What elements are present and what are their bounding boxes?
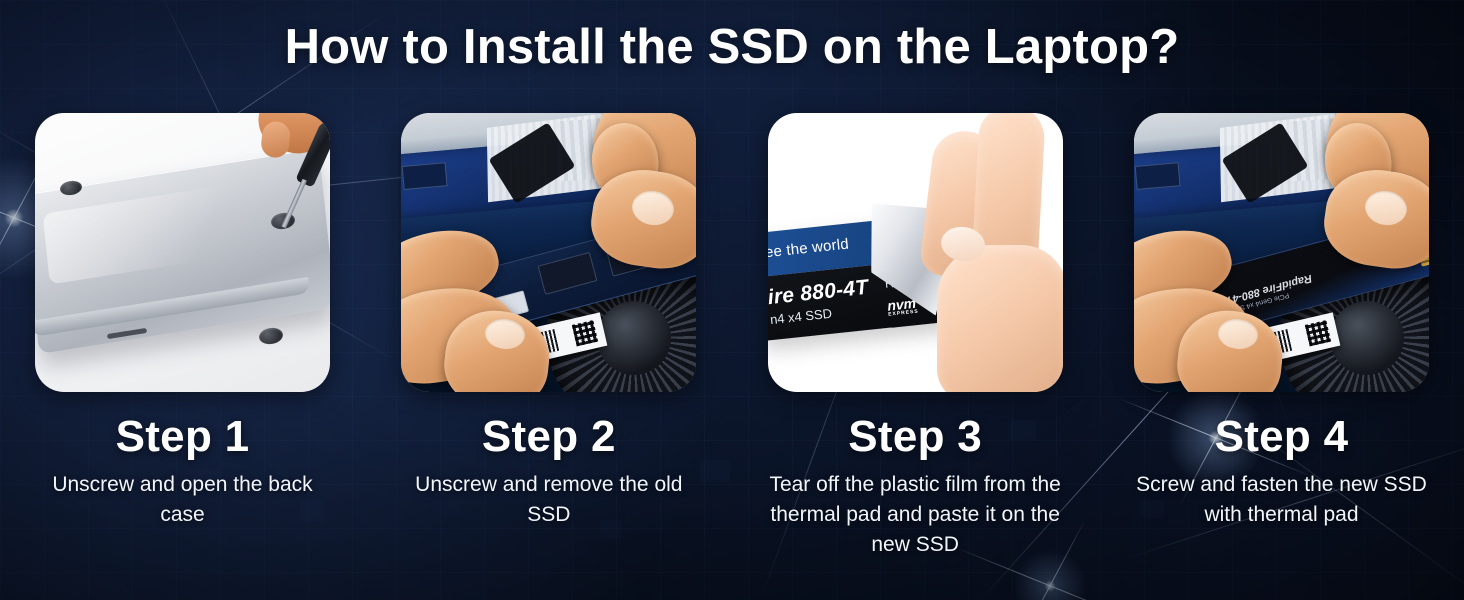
step-label: Step 2 xyxy=(482,412,616,462)
step-description: Screw and fasten the new SSD with therma… xyxy=(1131,470,1431,530)
step-description: Unscrew and remove the old SSD xyxy=(399,470,699,530)
remove-old-ssd-photo xyxy=(401,113,696,392)
ssd-chip xyxy=(538,252,598,295)
step-card-3: ee the world ire 880-4T n4 x4 SSD High P… xyxy=(768,113,1063,560)
laptop-back-case-unscrew-photo xyxy=(35,113,330,392)
laptop-foot-icon xyxy=(258,326,284,346)
peel-thermal-pad-film-photo: ee the world ire 880-4T n4 x4 SSD High P… xyxy=(768,113,1063,392)
hand-shape xyxy=(901,113,1063,392)
infographic-poster: How to Install the SSD on the Laptop? St… xyxy=(0,0,1464,600)
hand-palm-shape xyxy=(937,245,1063,392)
step-description: Tear off the plastic film from the therm… xyxy=(765,470,1065,560)
install-new-ssd-photo: WAVLINK RapidFire 880-4T PCIe Gen4 x4 SS… xyxy=(1134,113,1429,392)
step-card-1: Step 1 Unscrew and open the back case xyxy=(35,113,330,560)
step-description: Unscrew and open the back case xyxy=(33,470,333,530)
step-card-4: WAVLINK RapidFire 880-4T PCIe Gen4 x4 SS… xyxy=(1134,113,1429,560)
step-label: Step 4 xyxy=(1215,412,1349,462)
step-label: Step 3 xyxy=(848,412,982,462)
steps-row: Step 1 Unscrew and open the back case xyxy=(0,113,1464,560)
step-label: Step 1 xyxy=(116,412,250,462)
page-title: How to Install the SSD on the Laptop? xyxy=(0,16,1464,78)
step-card-2: Step 2 Unscrew and remove the old SSD xyxy=(401,113,696,560)
